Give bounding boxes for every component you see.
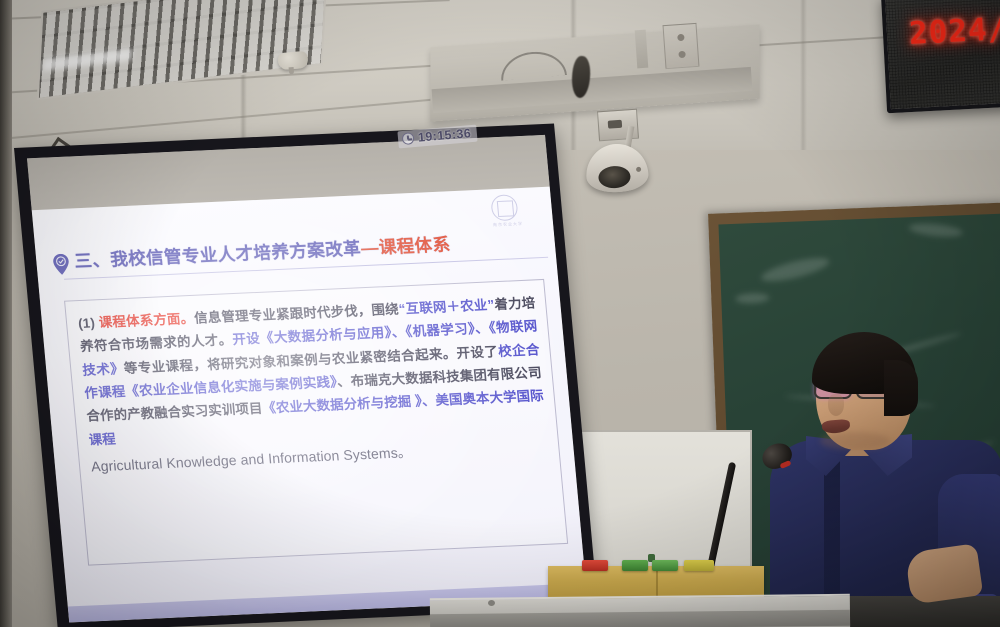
- chalk-smudge: [908, 221, 963, 238]
- mount-bracket: [663, 23, 700, 69]
- lectern-item-yellow[interactable]: [684, 560, 714, 571]
- lectern-item-green-2[interactable]: [652, 560, 678, 571]
- led-date-display: 2024/: [881, 0, 1000, 113]
- highlight-red-1: 课程体系方面。: [98, 311, 195, 330]
- highlight-blue-1: “互联网＋农业”: [398, 297, 495, 316]
- projection-screen[interactable]: 南京农业大学 三、我校信管专业人才培养方案改革—课程体系 (1) 课程体系方面。…: [14, 123, 598, 627]
- presenter-chin-shadow: [820, 432, 890, 450]
- timestamp-text: 19:15:36: [417, 126, 471, 145]
- slide-content-box: (1) 课程体系方面。信息管理专业紧跟时代步伐，围绕“互联网＋农业”着力培养符合…: [64, 279, 568, 566]
- clock-icon: [402, 132, 415, 145]
- item-number: (1): [77, 315, 99, 331]
- lectern-item-green-1[interactable]: [622, 560, 648, 571]
- chalk-smudge: [759, 253, 831, 286]
- screen-surface: 南京农业大学 三、我校信管专业人才培养方案改革—课程体系 (1) 课程体系方面。…: [27, 135, 587, 623]
- presentation-slide: 南京农业大学 三、我校信管专业人才培养方案改革—课程体系 (1) 课程体系方面。…: [32, 187, 588, 623]
- camera-lens: [598, 165, 631, 189]
- camera-screw: [636, 167, 641, 172]
- slide-title-accent: —课程体系: [360, 234, 451, 258]
- slide-title: 三、我校信管专业人才培养方案改革—课程体系: [74, 235, 452, 270]
- presenter-hair: [812, 332, 916, 394]
- map-pin-icon: [52, 254, 71, 276]
- chalk-smudge: [735, 293, 769, 304]
- lecture-hall-photo: 2024/ 南京农业大学: [0, 0, 1000, 627]
- led-date-text: 2024/: [908, 11, 1000, 52]
- presenter-nose: [828, 394, 844, 416]
- desk-screw: [488, 600, 495, 606]
- university-seal-logo: 南京农业大学: [490, 194, 523, 229]
- slide-paragraph: (1) 课程体系方面。信息管理专业紧跟时代步伐，围绕“互联网＋农业”着力培养符合…: [77, 291, 547, 451]
- logo-caption: 南京农业大学: [493, 221, 524, 228]
- body-text-1: 信息管理专业紧跟时代步伐，围绕: [194, 302, 400, 326]
- wall-corner-shadow: [0, 0, 12, 627]
- camera-mount: [597, 109, 639, 142]
- lectern-item-red[interactable]: [582, 560, 608, 571]
- seal-ring: [490, 194, 518, 221]
